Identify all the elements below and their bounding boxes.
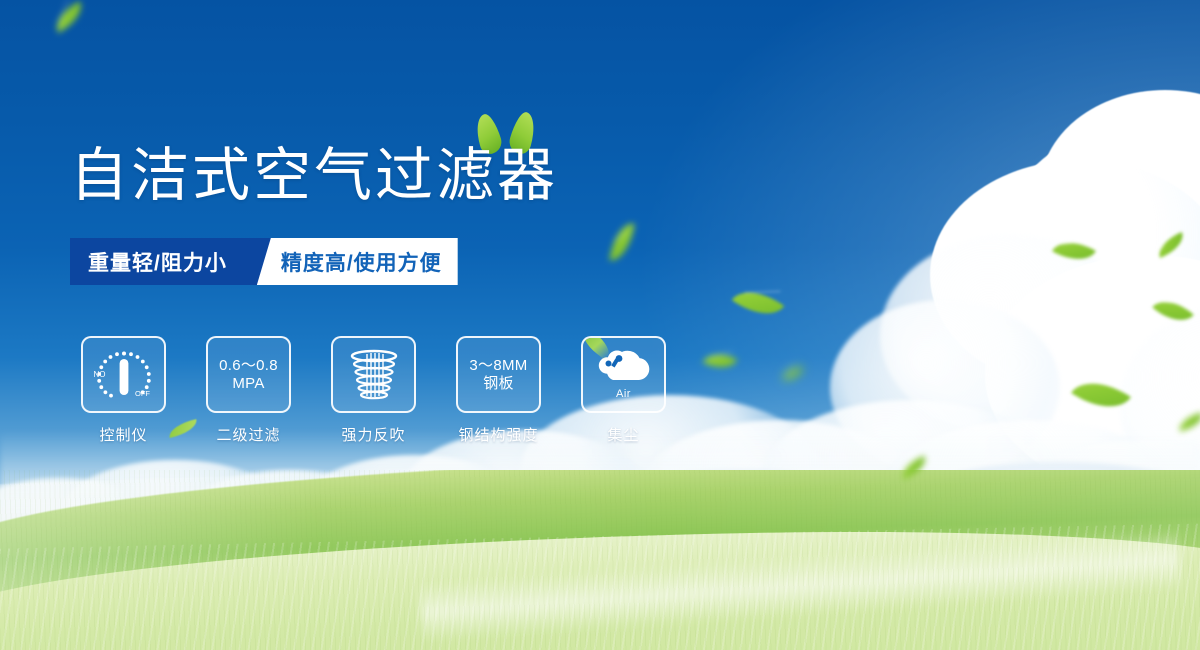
feature-label: 强力反吹 [341,424,405,445]
feature-item-pressure[interactable]: 0.6〜0.8 MPA 二级过滤 [197,336,300,445]
tagline-badge: 重量轻/阻力小 精度高/使用方便 [70,238,458,285]
feature-item-dust[interactable]: Air 集尘 [572,336,675,445]
dial-on-label: NO [93,370,105,379]
pressure-unit-line2: MPA [232,375,264,393]
page-title: 自洁式空气过滤器 [70,146,558,207]
air-label: Air [616,388,631,400]
cloud-air-icon: Air [581,336,666,413]
tagline-badge-left: 重量轻/阻力小 [70,238,257,285]
pressure-text-icon: 0.6〜0.8 MPA [206,336,291,413]
banner-content: 自洁式空气过滤器 重量轻/阻力小 精度高/使用方便 [0,0,1200,650]
steel-plate-line2: 钢板 [483,375,514,393]
feature-label: 钢结构强度 [458,424,538,445]
feature-item-control[interactable]: NO OFF 控制仪 [72,336,175,445]
steel-thickness-line1: 3〜8MM [469,357,527,375]
filter-cartridge-icon [331,336,416,413]
feature-label: 控制仪 [99,424,147,445]
feature-list: NO OFF 控制仪 0.6〜0.8 MPA 二级过滤 [72,336,675,445]
feature-label: 集尘 [607,424,639,445]
product-hero-banner: 自洁式空气过滤器 重量轻/阻力小 精度高/使用方便 [0,0,1200,650]
feature-item-backblow[interactable]: 强力反吹 [322,336,425,445]
steel-plate-text-icon: 3〜8MM 钢板 [456,336,541,413]
dial-off-label: OFF [135,389,150,398]
control-dial-icon: NO OFF [81,336,166,413]
feature-item-steel[interactable]: 3〜8MM 钢板 钢结构强度 [447,336,550,445]
pressure-range-line1: 0.6〜0.8 [219,357,278,375]
feature-label: 二级过滤 [216,424,280,445]
tagline-badge-right: 精度高/使用方便 [257,238,458,285]
